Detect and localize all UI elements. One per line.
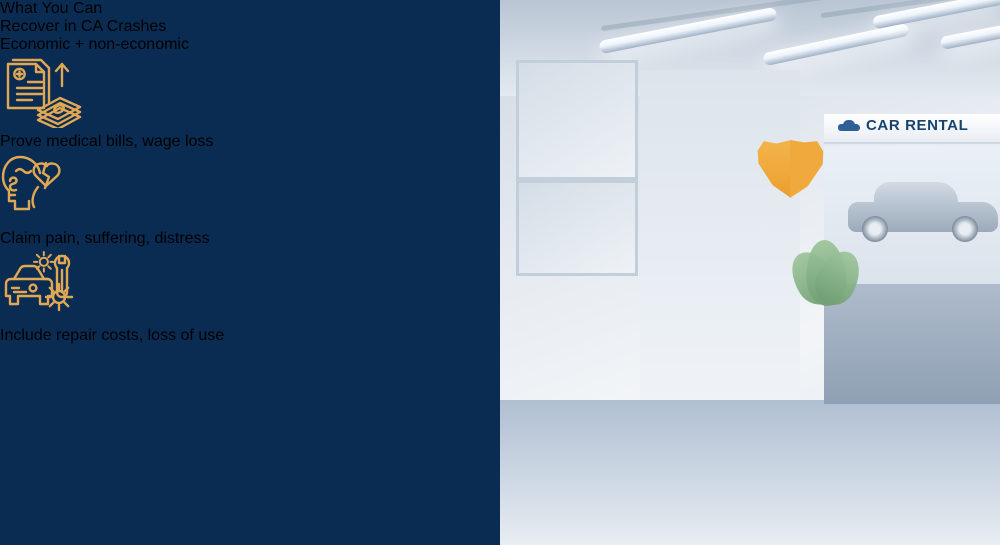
car-rental-sign: CAR RENTAL: [838, 117, 968, 134]
car-icon: [838, 120, 860, 132]
shop-wall-panel: [640, 70, 800, 400]
shop-floor: [500, 400, 1000, 545]
infographic-banner: CAR RENTAL: [0, 0, 1000, 545]
showroom-car: [848, 180, 998, 242]
car-rental-sign-text: CAR RENTAL: [866, 117, 968, 134]
photo-auto-body-shop: CAR RENTAL: [0, 0, 1000, 545]
shop-window-pane: [516, 60, 638, 180]
shop-window-pane: [516, 180, 638, 276]
broken-heart-icon: [757, 140, 823, 202]
potted-plant: [790, 196, 854, 306]
